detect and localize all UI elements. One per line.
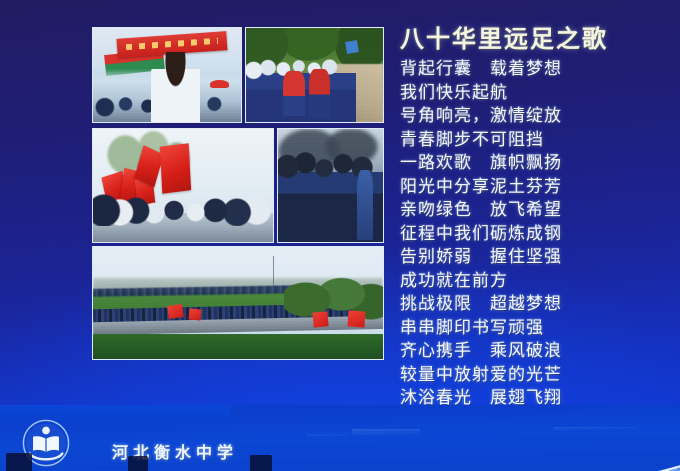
photo-foreground-person [151, 52, 200, 122]
lyric-line: 背起行囊 载着梦想 [400, 58, 668, 82]
photo-red-flag [348, 310, 366, 327]
photo-red-flags-parade [92, 128, 274, 243]
photo-collage [92, 27, 384, 360]
lyric-line: 告别娇弱 握住坚强 [400, 246, 668, 270]
photo-blue-jacket-student [357, 170, 373, 240]
photo-red-shirt-student-2 [309, 69, 330, 118]
photo-red-flag [313, 311, 329, 327]
photo-row-1 [92, 27, 384, 123]
photo-red-flag [160, 143, 191, 194]
photo-red-cap [210, 80, 229, 88]
photo-row-3 [92, 246, 384, 360]
photo-red-shirt-student [283, 71, 305, 116]
song-title: 八十华里远足之歌 [400, 24, 668, 54]
photo-students-walking [245, 27, 384, 123]
photo-foreground-field [93, 334, 383, 359]
banner-foreground-object [250, 455, 272, 471]
lyric-line: 一路欢歌 旗帜飘扬 [400, 152, 668, 176]
photo-panorama-procession [92, 246, 384, 360]
photo-students-red-banner [92, 27, 242, 123]
song-lyrics-panel: 八十华里远足之歌 背起行囊 载着梦想 我们快乐起航 号角响亮，激情绽放 青春脚步… [400, 24, 668, 434]
school-banner: 河北衡水中学 [0, 405, 680, 471]
photo-students-group [277, 128, 384, 243]
lyric-line: 号角响亮，激情绽放 [400, 105, 668, 129]
lyric-line: 青春脚步不可阻挡 [400, 129, 668, 153]
banner-swoosh-line [0, 405, 680, 471]
presentation-slide: 八十华里远足之歌 背起行囊 载着梦想 我们快乐起航 号角响亮，激情绽放 青春脚步… [0, 0, 680, 471]
lyric-line: 亲吻绿色 放飞希望 [400, 199, 668, 223]
photo-red-flag [188, 308, 201, 320]
lyric-line: 挑战极限 超越梦想 [400, 293, 668, 317]
lyric-line: 我们快乐起航 [400, 82, 668, 106]
photo-people-layer [93, 192, 273, 226]
photo-small-flag [345, 40, 359, 54]
lyric-line: 齐心携手 乘风破浪 [400, 340, 668, 364]
photo-red-flag [168, 304, 184, 319]
lyric-line: 阳光中分享泥土芬芳 [400, 176, 668, 200]
lyric-line: 征程中我们砺炼成钢 [400, 223, 668, 247]
photo-row-2 [92, 128, 384, 243]
lyric-line: 较量中放射爱的光芒 [400, 364, 668, 388]
lyric-line: 成功就在前方 [400, 270, 668, 294]
lyric-line: 串串脚印书写顽强 [400, 317, 668, 341]
banner-foreground-object [128, 456, 148, 471]
banner-foreground-object [6, 453, 32, 471]
photo-trees-layer [284, 272, 383, 326]
